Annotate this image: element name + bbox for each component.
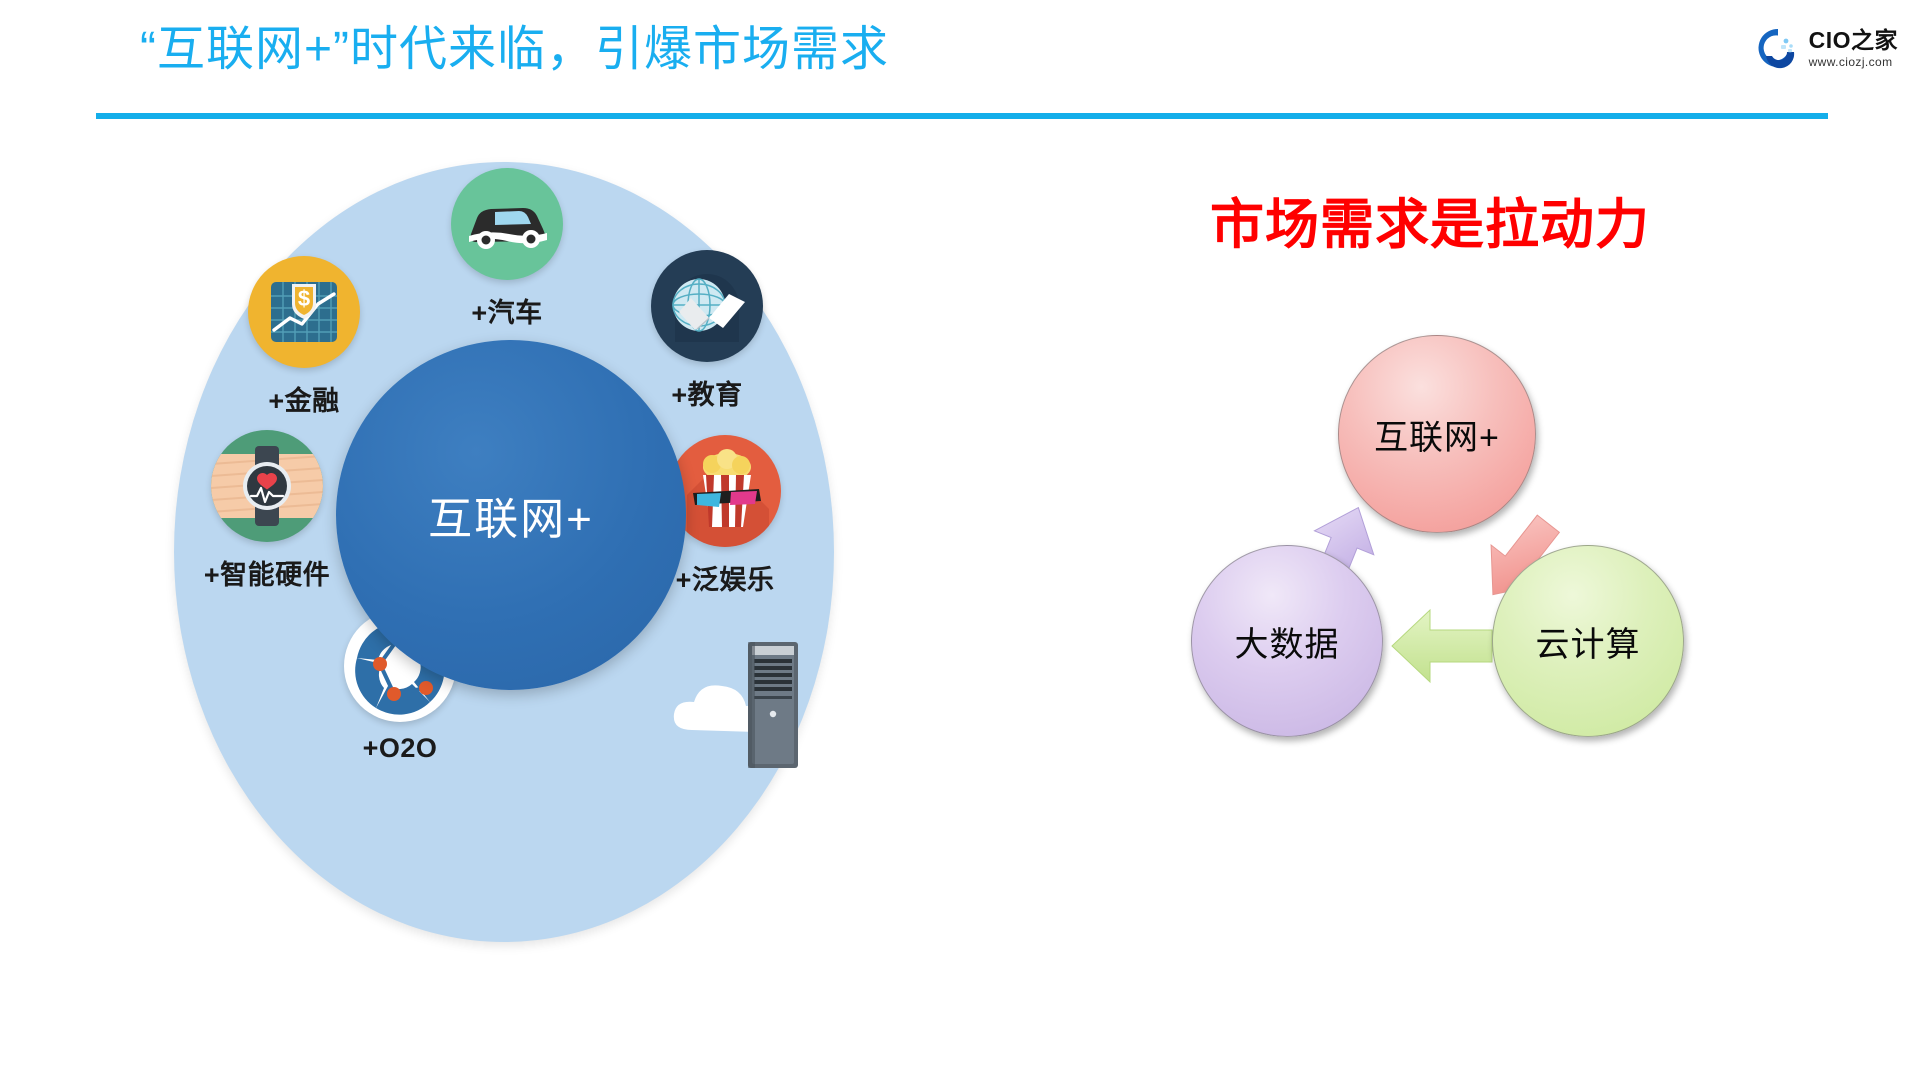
title-divider [96, 113, 1828, 119]
car-icon [451, 168, 563, 280]
eco-node-label: +金融 [268, 379, 339, 418]
cycle-node-internet[interactable]: 互联网+ [1338, 335, 1536, 533]
eco-node-label: +教育 [671, 373, 742, 412]
cycle-node-label: 大数据 [1235, 617, 1340, 666]
eco-node-auto[interactable]: +汽车 [443, 168, 571, 330]
cycle-node-label: 云计算 [1536, 617, 1641, 666]
demand-heading: 市场需求是拉动力 [1020, 180, 1840, 259]
eco-node-smarthardware[interactable]: +智能硬件 [203, 430, 331, 592]
eco-node-finance[interactable]: $ +金融 [240, 256, 368, 418]
ecosystem-core[interactable]: 互联网+ [336, 340, 686, 690]
ecosystem-diagram: +汽车 $ +金融 [150, 140, 880, 970]
logo-url: www.ciozj.com [1809, 56, 1898, 68]
eco-node-label: +O2O [363, 733, 438, 764]
server-tower-icon [744, 640, 802, 770]
page-title: “互联网+”时代来临，引爆市场需求 [140, 24, 889, 77]
cycle-node-label: 互联网+ [1374, 410, 1500, 459]
ecosystem-core-label: 互联网+ [428, 483, 594, 547]
cycle-node-bigdata[interactable]: 大数据 [1191, 545, 1383, 737]
eco-node-label: +智能硬件 [204, 553, 330, 592]
brand-logo: CIO之家 www.ciozj.com [1756, 26, 1898, 70]
demand-cycle-diagram: 市场需求是拉动力 [1020, 180, 1840, 880]
cio-circle-logo-icon [1756, 26, 1800, 70]
eco-node-label: +泛娱乐 [676, 558, 775, 597]
cycle-node-cloud[interactable]: 云计算 [1492, 545, 1684, 737]
popcorn-3d-glasses-icon [669, 435, 781, 547]
smartwatch-heartrate-icon [211, 430, 323, 542]
eco-node-education[interactable]: +教育 [643, 250, 771, 412]
globe-book-icon [651, 250, 763, 362]
logo-name: CIO之家 [1809, 29, 1898, 52]
eco-node-label: +汽车 [471, 291, 542, 330]
arrow-left-icon [1386, 598, 1498, 694]
svg-text:$: $ [298, 286, 310, 311]
finance-chart-icon: $ [248, 256, 360, 368]
